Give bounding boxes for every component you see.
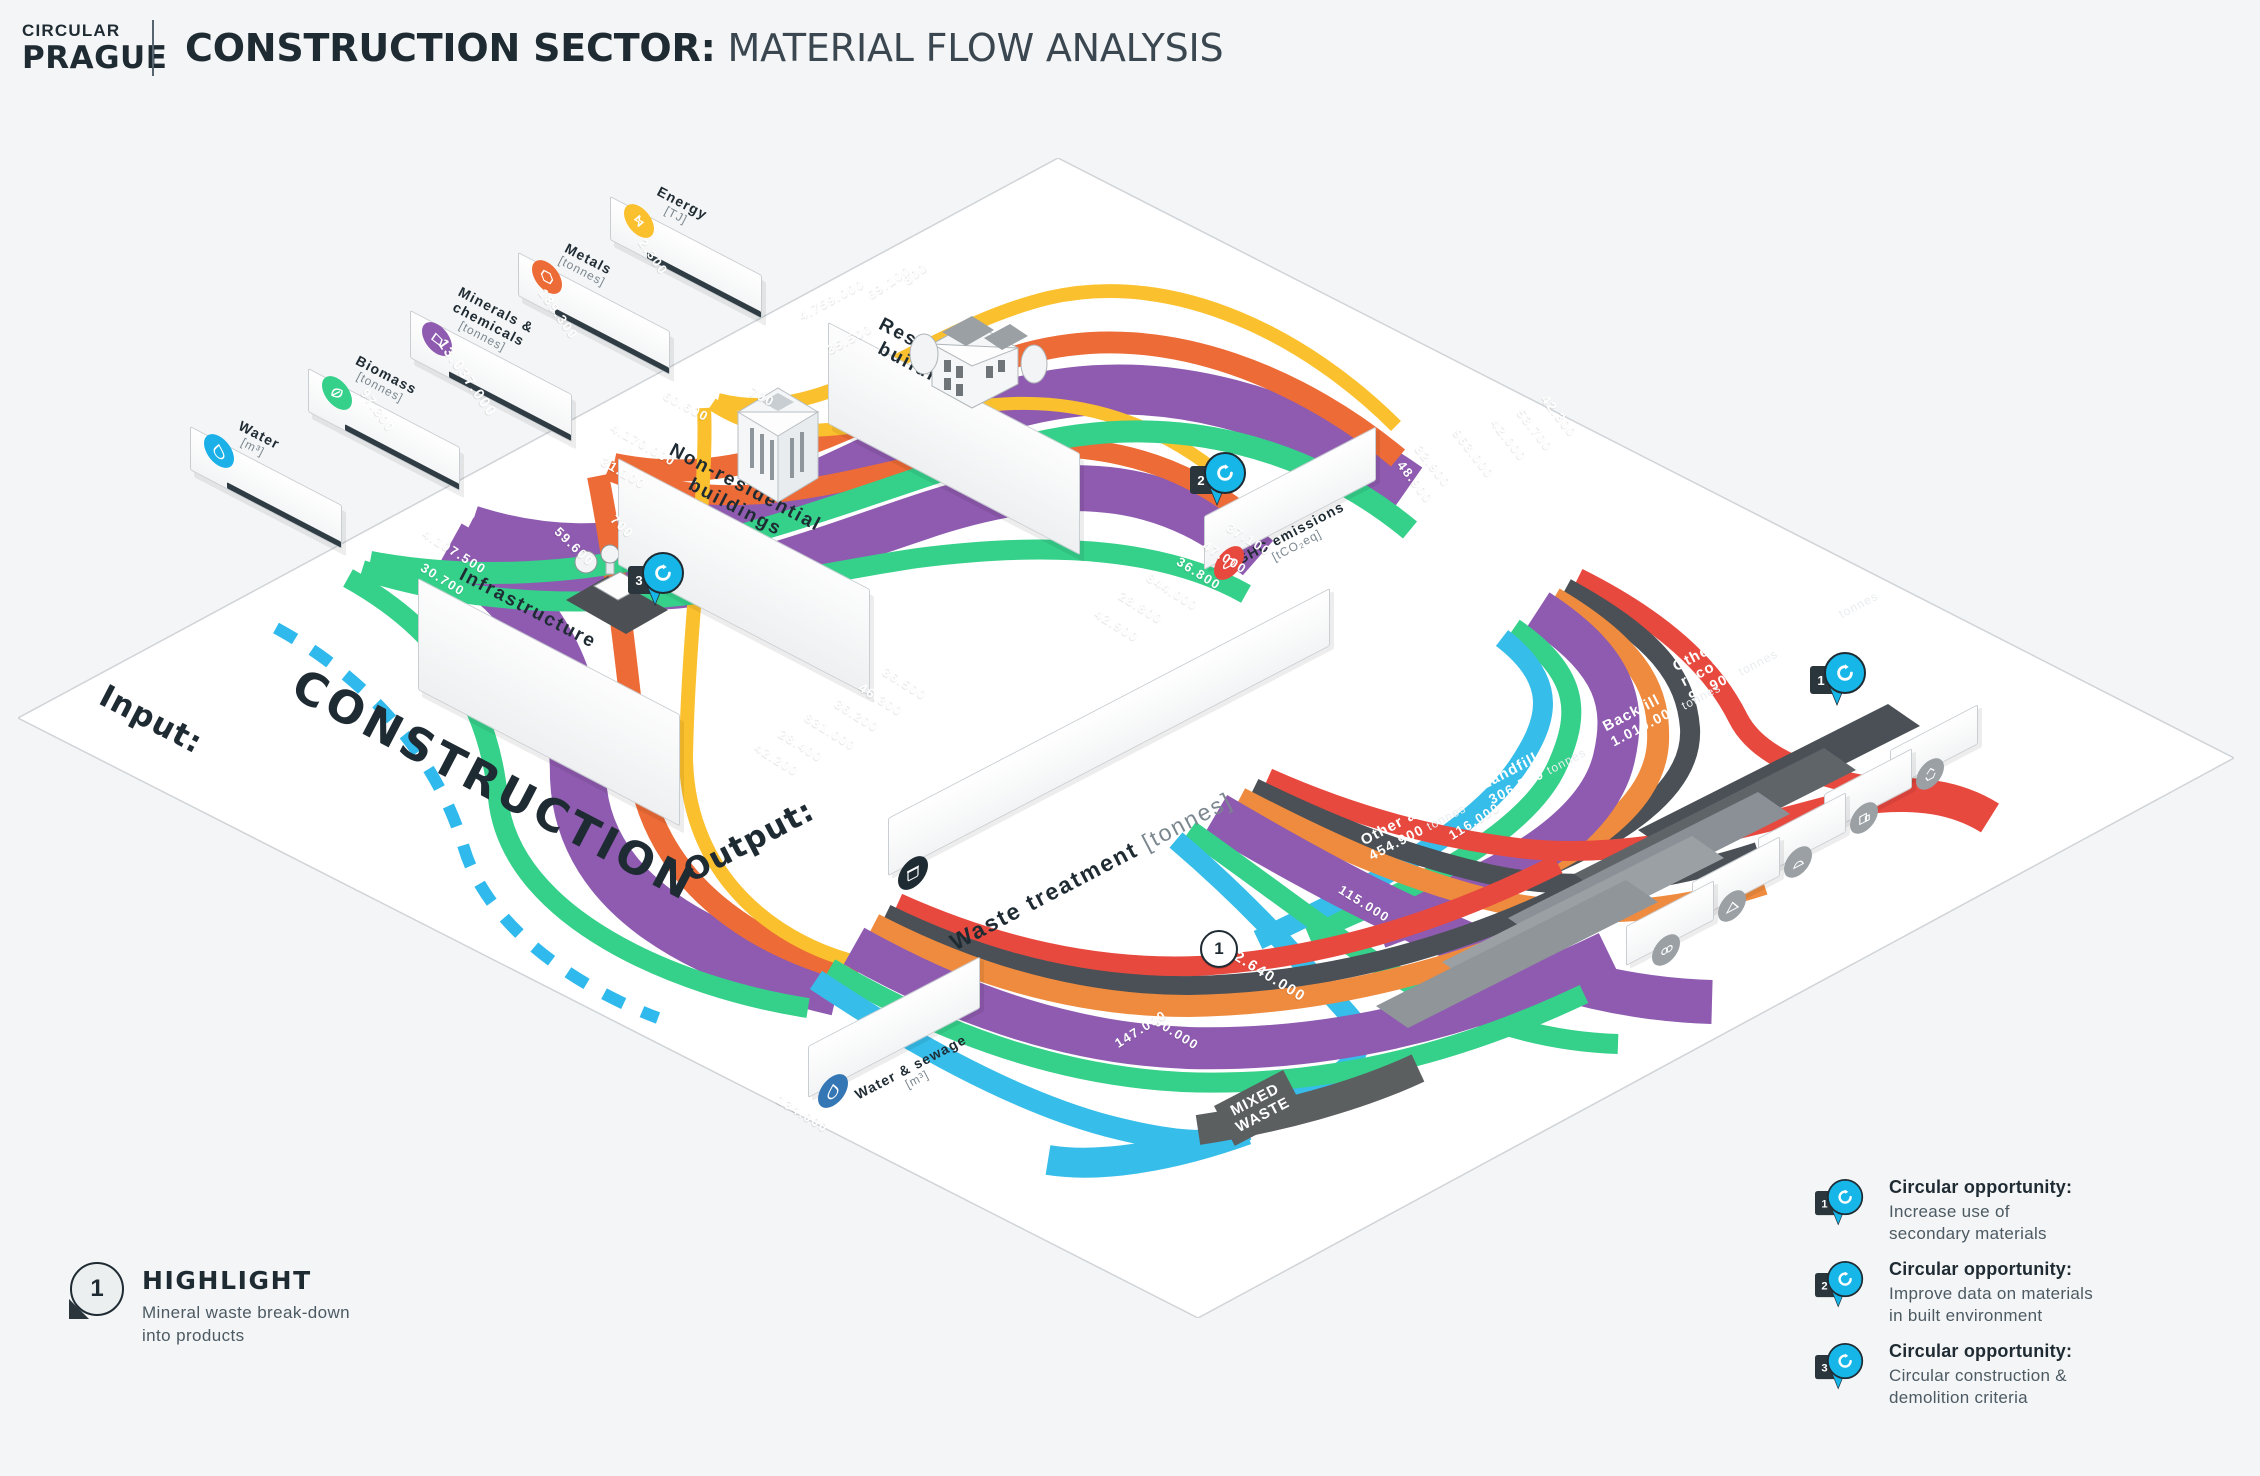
highlight-title: HIGHLIGHT	[142, 1266, 312, 1295]
house-icon	[898, 282, 1058, 412]
opportunity-pin-3[interactable]: 3	[628, 552, 680, 614]
highlight-description: Mineral waste break-down into products	[142, 1302, 350, 1348]
brand-logo: CIRCULAR PRAGUE	[22, 22, 167, 74]
brand-line-1: CIRCULAR	[22, 22, 167, 39]
opportunity-heading-1: Circular opportunity:	[1889, 1177, 2072, 1198]
opportunity-heading-2: Circular opportunity:	[1889, 1259, 2072, 1280]
highlight-badge: 1	[70, 1262, 124, 1316]
page-header: CIRCULAR PRAGUE CONSTRUCTION SECTOR: MAT…	[0, 0, 2260, 108]
opportunity-heading-3: Circular opportunity:	[1889, 1341, 2072, 1362]
opportunity-legend-pin-2[interactable]: 2	[1815, 1261, 1860, 1314]
opportunity-item-1: 1 Circular opportunity: Increase use of …	[1815, 1175, 2235, 1257]
page-title-bold: CONSTRUCTION SECTOR:	[185, 26, 716, 70]
opportunity-legend-pin-3[interactable]: 3	[1815, 1343, 1860, 1396]
refresh-icon	[1204, 452, 1246, 494]
material-flow-diagram: Input: CONSTRUCTION Output: Water [m³] B…	[18, 158, 2234, 1318]
opportunity-item-2: 2 Circular opportunity: Improve data on …	[1815, 1257, 2235, 1339]
refresh-icon	[1824, 652, 1866, 694]
highlight-marker-1[interactable]: 1	[1200, 930, 1238, 968]
header-divider	[152, 20, 154, 76]
opportunities-legend: 1 Circular opportunity: Increase use of …	[1815, 1175, 2235, 1421]
opportunity-pin-1[interactable]: 1	[1810, 652, 1862, 714]
brand-line-2: PRAGUE	[22, 43, 167, 74]
refresh-icon	[1827, 1179, 1863, 1215]
refresh-icon	[1827, 1343, 1863, 1379]
opportunity-text-3: Circular construction & demolition crite…	[1889, 1365, 2067, 1409]
opportunity-pin-2[interactable]: 2	[1190, 452, 1242, 514]
refresh-icon	[642, 552, 684, 594]
refresh-icon	[1827, 1261, 1863, 1297]
page-title: CONSTRUCTION SECTOR: MATERIAL FLOW ANALY…	[185, 26, 1223, 70]
opportunity-text-1: Increase use of secondary materials	[1889, 1201, 2047, 1245]
opportunity-text-2: Improve data on materials in built envir…	[1889, 1283, 2093, 1327]
opportunity-item-3: 3 Circular opportunity: Circular constru…	[1815, 1339, 2235, 1421]
page-title-light: MATERIAL FLOW ANALYSIS	[727, 26, 1223, 70]
opportunity-legend-pin-1[interactable]: 1	[1815, 1179, 1860, 1232]
